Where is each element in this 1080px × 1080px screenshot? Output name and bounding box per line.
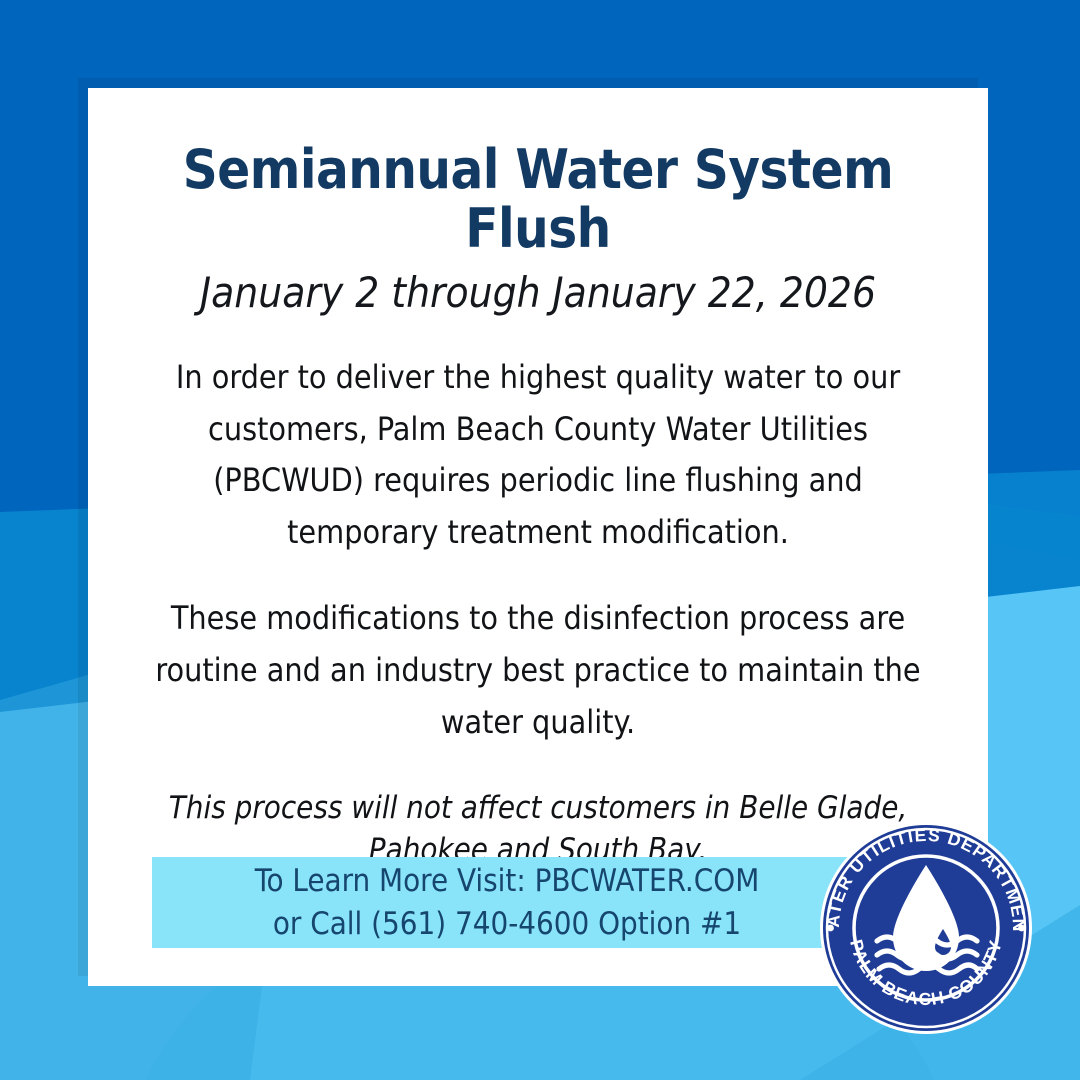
contact-phone-line[interactable]: or Call (561) 740-4600 Option #1 [273,903,741,946]
date-range-subtitle: January 2 through January 22, 2026 [134,269,942,316]
body-paragraph-2: These modifications to the disinfection … [134,593,942,748]
water-utilities-seal-logo: WATER UTILITIES DEPARTMENT PALM BEACH CO… [817,819,1035,1037]
seal-dot-left [827,925,834,932]
poster-canvas: Semiannual Water System Flush January 2 … [0,0,1080,1080]
contact-banner[interactable]: To Learn More Visit: PBCWATER.COM or Cal… [152,857,862,948]
body-paragraph-1: In order to deliver the highest quality … [134,352,942,559]
contact-website-line[interactable]: To Learn More Visit: PBCWATER.COM [255,860,760,903]
seal-dot-right [1018,925,1025,932]
page-title: Semiannual Water System Flush [134,140,942,259]
